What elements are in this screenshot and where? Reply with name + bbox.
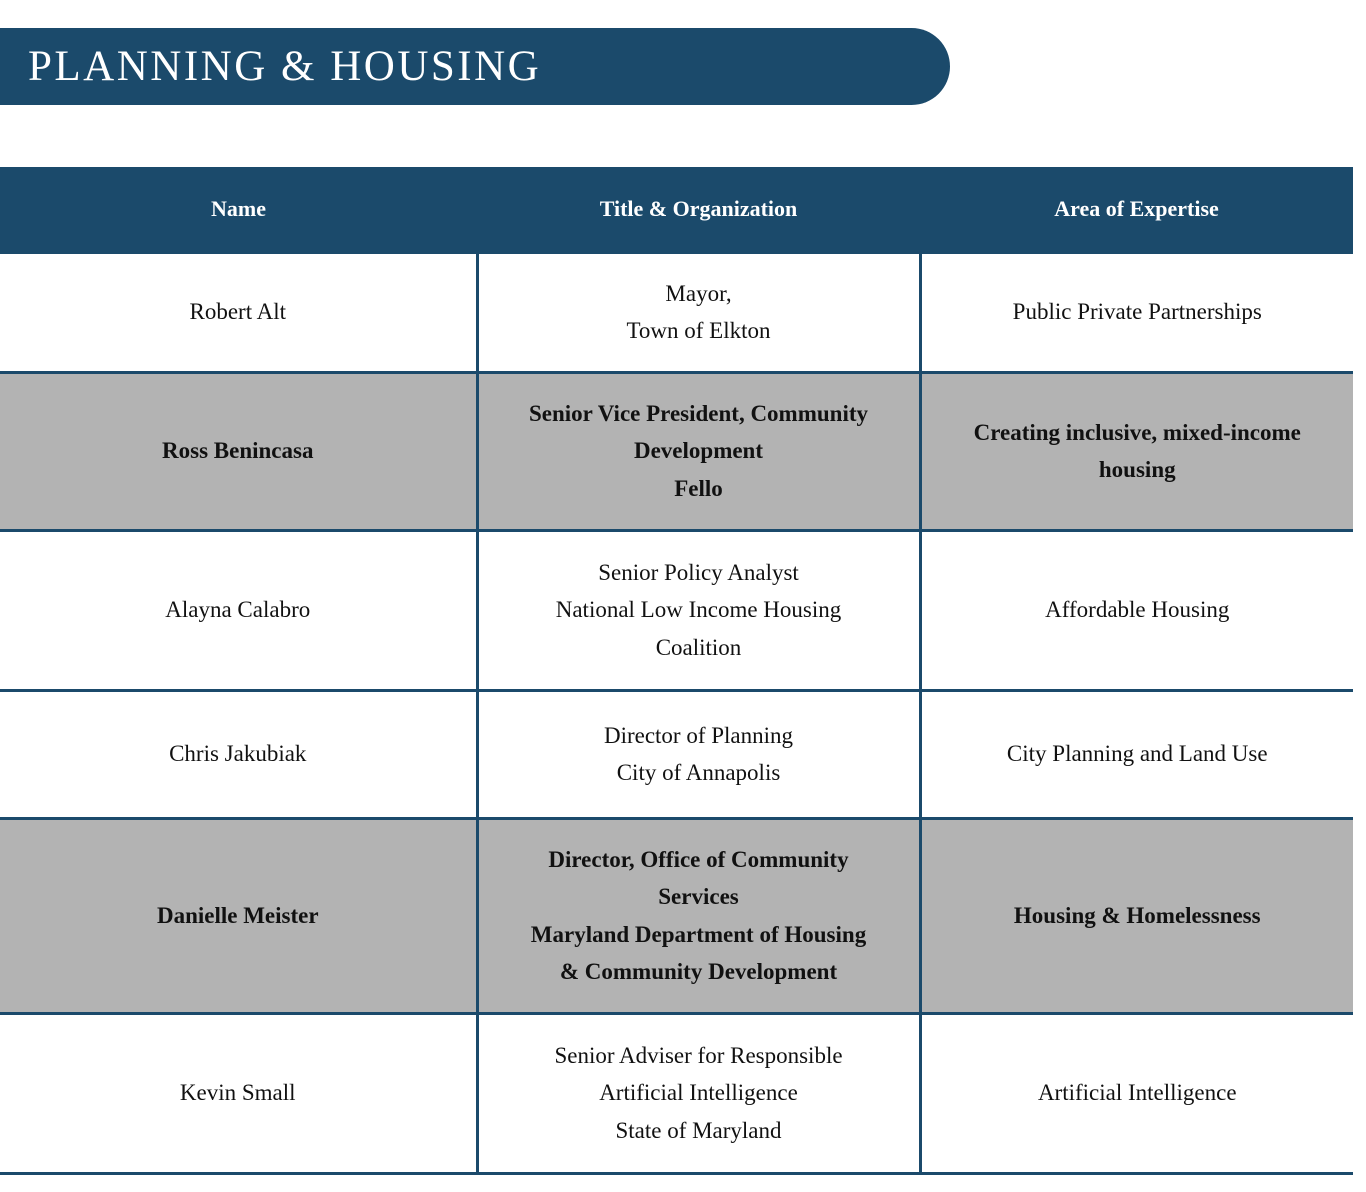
cell-area-of-expertise-line: Public Private Partnerships	[936, 293, 1340, 330]
cell-area-of-expertise-line: City Planning and Land Use	[936, 735, 1340, 772]
table-row: Kevin SmallSenior Adviser for Responsibl…	[0, 1013, 1353, 1173]
cell-title-organization-line: State of Maryland	[493, 1112, 905, 1149]
cell-title-organization-line: Artificial Intelligence	[493, 1074, 905, 1111]
cell-title-organization-line: City of Annapolis	[493, 754, 905, 791]
roster-table-container: Name Title & Organization Area of Expert…	[0, 167, 1353, 1175]
cell-title-organization-line: Director of Planning	[493, 717, 905, 754]
cell-area-of-expertise-line: housing	[936, 451, 1340, 488]
column-header-name: Name	[0, 167, 477, 252]
page-title-banner: PLANNING & HOUSING	[0, 28, 950, 105]
column-header-title-organization: Title & Organization	[477, 167, 920, 252]
cell-title-organization-line: Development	[493, 432, 905, 469]
cell-area-of-expertise-line: Artificial Intelligence	[936, 1074, 1340, 1111]
table-row: Robert AltMayor,Town of ElktonPublic Pri…	[0, 252, 1353, 372]
cell-name: Chris Jakubiak	[0, 690, 477, 818]
cell-title-organization-line: Services	[493, 878, 905, 915]
cell-title-organization: Director of PlanningCity of Annapolis	[477, 690, 920, 818]
cell-area-of-expertise: Public Private Partnerships	[920, 252, 1353, 372]
cell-area-of-expertise: Housing & Homelessness	[920, 818, 1353, 1013]
cell-title-organization: Senior Vice President, CommunityDevelopm…	[477, 372, 920, 530]
cell-title-organization-line: Senior Vice President, Community	[493, 395, 905, 432]
cell-name: Alayna Calabro	[0, 530, 477, 690]
cell-title-organization: Mayor,Town of Elkton	[477, 252, 920, 372]
table-body: Robert AltMayor,Town of ElktonPublic Pri…	[0, 252, 1353, 1173]
table-row: Alayna CalabroSenior Policy AnalystNatio…	[0, 530, 1353, 690]
cell-title-organization: Senior Policy AnalystNational Low Income…	[477, 530, 920, 690]
column-header-area-of-expertise: Area of Expertise	[920, 167, 1353, 252]
cell-title-organization-line: Senior Policy Analyst	[493, 554, 905, 591]
table-row: Chris JakubiakDirector of PlanningCity o…	[0, 690, 1353, 818]
cell-title-organization-line: Director, Office of Community	[493, 841, 905, 878]
cell-title-organization: Senior Adviser for ResponsibleArtificial…	[477, 1013, 920, 1173]
banner-shape: PLANNING & HOUSING	[0, 28, 950, 105]
cell-name: Ross Benincasa	[0, 372, 477, 530]
cell-name: Danielle Meister	[0, 818, 477, 1013]
cell-area-of-expertise: Affordable Housing	[920, 530, 1353, 690]
page-title: PLANNING & HOUSING	[28, 45, 541, 88]
cell-title-organization-line: Mayor,	[493, 275, 905, 312]
cell-area-of-expertise: City Planning and Land Use	[920, 690, 1353, 818]
cell-title-organization-line: & Community Development	[493, 953, 905, 990]
roster-table: Name Title & Organization Area of Expert…	[0, 167, 1353, 1175]
cell-area-of-expertise-line: Creating inclusive, mixed-income	[936, 414, 1340, 451]
table-row: Danielle MeisterDirector, Office of Comm…	[0, 818, 1353, 1013]
cell-area-of-expertise-line: Affordable Housing	[936, 591, 1340, 628]
cell-area-of-expertise: Artificial Intelligence	[920, 1013, 1353, 1173]
cell-title-organization: Director, Office of CommunityServicesMar…	[477, 818, 920, 1013]
table-header-row: Name Title & Organization Area of Expert…	[0, 167, 1353, 252]
cell-area-of-expertise: Creating inclusive, mixed-incomehousing	[920, 372, 1353, 530]
cell-title-organization-line: Fello	[493, 470, 905, 507]
cell-title-organization-line: Town of Elkton	[493, 312, 905, 349]
cell-title-organization-line: Coalition	[493, 629, 905, 666]
cell-title-organization-line: Senior Adviser for Responsible	[493, 1037, 905, 1074]
cell-title-organization-line: National Low Income Housing	[493, 591, 905, 628]
cell-name: Robert Alt	[0, 252, 477, 372]
cell-name: Kevin Small	[0, 1013, 477, 1173]
cell-title-organization-line: Maryland Department of Housing	[493, 916, 905, 953]
table-row: Ross BenincasaSenior Vice President, Com…	[0, 372, 1353, 530]
cell-area-of-expertise-line: Housing & Homelessness	[936, 897, 1340, 934]
table-header: Name Title & Organization Area of Expert…	[0, 167, 1353, 252]
